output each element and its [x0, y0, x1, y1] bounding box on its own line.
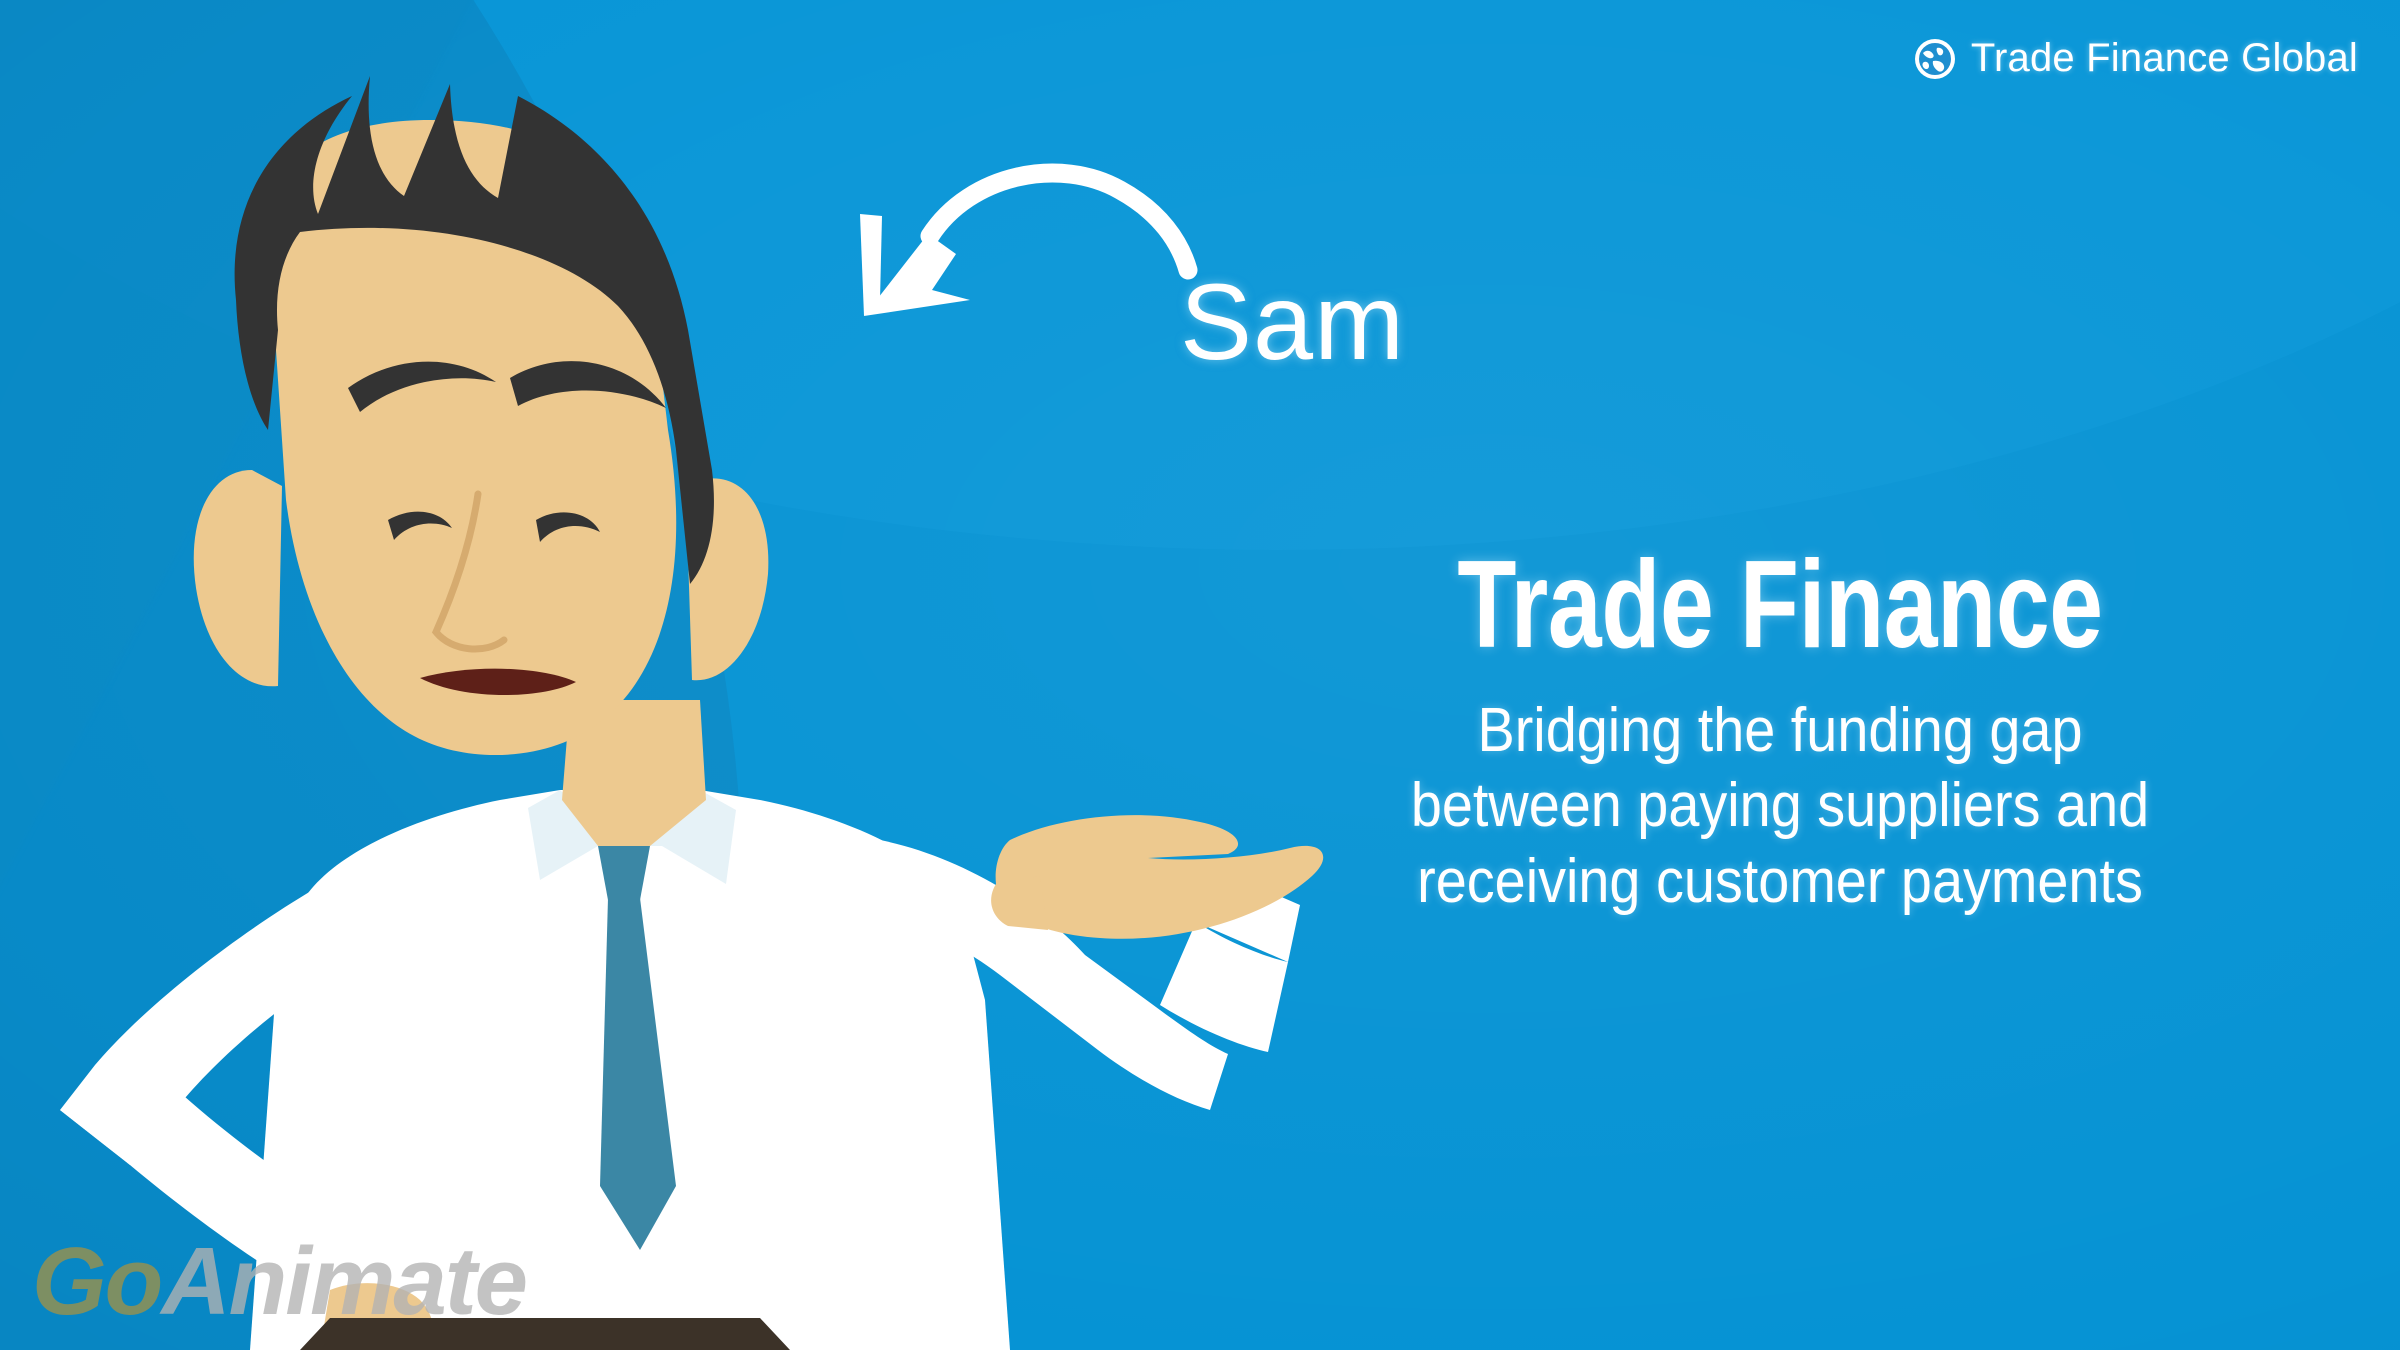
subtitle-line-3: receiving customer payments: [1339, 844, 2221, 920]
slide-canvas: Sam Trade Finance Bridging the funding g…: [0, 0, 2400, 1350]
page-title: Trade Finance: [1398, 545, 2162, 667]
subtitle-line-1: Bridging the funding gap: [1339, 693, 2221, 769]
brand-logo-text: Trade Finance Global: [1971, 36, 2358, 81]
headline-block: Trade Finance Bridging the funding gap b…: [1290, 545, 2270, 919]
globe-icon: [1913, 37, 1957, 81]
subtitle-line-2: between paying suppliers and: [1339, 768, 2221, 844]
brand-logo[interactable]: Trade Finance Global: [1913, 36, 2358, 81]
character-ear-left: [194, 470, 282, 686]
page-subtitle: Bridging the funding gap between paying …: [1339, 693, 2221, 920]
character-trousers: [300, 1318, 790, 1350]
character-name-label: Sam: [1180, 268, 1405, 376]
